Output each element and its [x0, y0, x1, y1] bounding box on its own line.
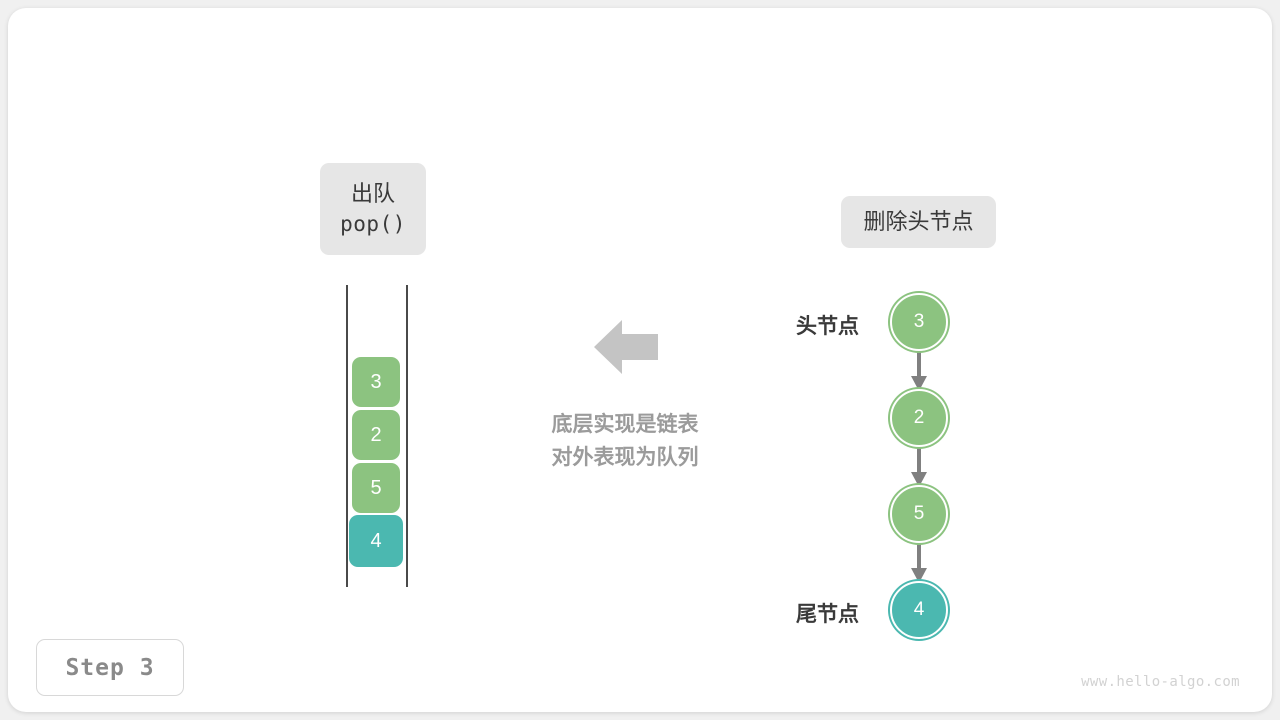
queue-cell-value: 2 [370, 424, 381, 447]
delete-head-label-chip: 删除头节点 [841, 196, 996, 248]
queue-cell-value: 3 [370, 371, 381, 394]
operation-label-line2: pop() [340, 210, 406, 240]
delete-head-label-text: 删除头节点 [863, 206, 973, 237]
queue-cell: 5 [352, 463, 400, 513]
operation-label-line1: 出队 [351, 178, 395, 209]
step-badge: Step 3 [36, 639, 184, 696]
linked-list-node: 4 [890, 581, 948, 639]
tail-node-label: 尾节点 [724, 598, 859, 628]
linked-list-connector-arrow-icon [900, 350, 938, 392]
step-badge-label: Step 3 [65, 655, 154, 681]
watermark: www.hello-algo.com [1081, 674, 1240, 690]
linked-list-node: 5 [890, 485, 948, 543]
linked-list-node-value: 2 [914, 407, 925, 429]
diagram-canvas: 出队 pop() 删除头节点 3 2 5 4 底层实现是链表 对外表现为队列 [0, 0, 1280, 720]
operation-label-chip: 出队 pop() [320, 163, 426, 255]
queue-rail-right [406, 285, 408, 587]
queue-rail-left [346, 285, 348, 587]
head-node-label: 头节点 [724, 310, 859, 340]
caption-line2: 对外表现为队列 [500, 441, 750, 474]
linked-list-node-value: 5 [914, 503, 925, 525]
linked-list-node-value: 3 [914, 311, 925, 333]
caption-line1: 底层实现是链表 [500, 408, 750, 441]
left-block-arrow-icon [594, 318, 658, 376]
linked-list-connector-arrow-icon [900, 542, 938, 584]
queue-cell: 4 [349, 515, 403, 567]
linked-list-node: 2 [890, 389, 948, 447]
diagram-caption: 底层实现是链表 对外表现为队列 [500, 408, 750, 474]
linked-list-node: 3 [890, 293, 948, 351]
linked-list-connector-arrow-icon [900, 446, 938, 488]
queue-cell-value: 4 [370, 530, 381, 553]
queue-cell-value: 5 [370, 477, 381, 500]
queue-cell: 3 [352, 357, 400, 407]
queue-cell: 2 [352, 410, 400, 460]
linked-list-node-value: 4 [914, 599, 925, 621]
